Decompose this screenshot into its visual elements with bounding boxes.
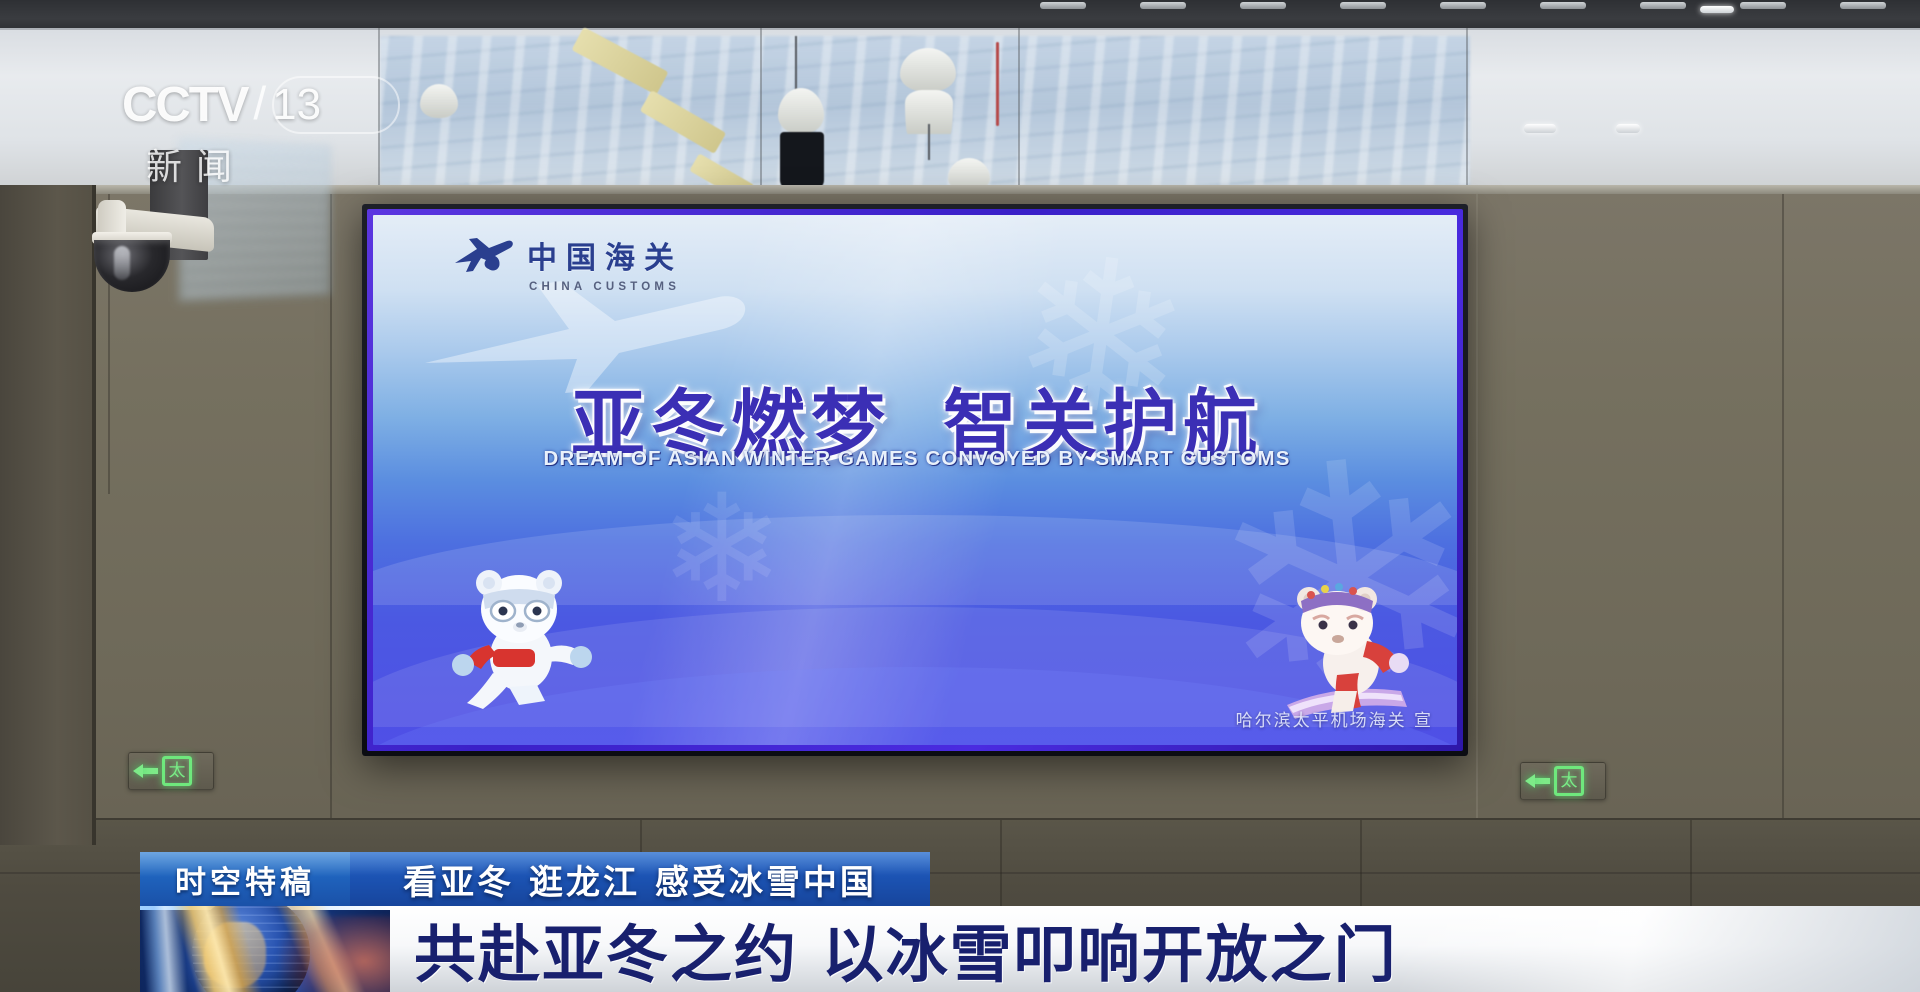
led-screen-content: ❄ ❄ ❄ 中国海关 CHINA CUSTOMS: [373, 215, 1457, 745]
ceiling-dark-fixture: [780, 132, 824, 190]
customs-logo-cn: 中国海关: [527, 233, 683, 277]
led-credit-text: 哈尔滨太平机场海关 宣: [1236, 706, 1433, 731]
speed-skating-tiger-mascot: [449, 553, 599, 713]
exit-sign-right: 太: [1520, 762, 1606, 800]
exit-running-person-icon-2: 太: [1554, 766, 1584, 796]
customs-logo-en: CHINA CUSTOMS: [529, 281, 683, 293]
recessed-ceiling-light-1: [1524, 124, 1556, 133]
ceiling-light-fixture: [778, 88, 824, 134]
lower-third-subtitle-box: 看亚冬 逛龙江 感受冰雪中国: [350, 852, 930, 906]
exit-sign-left: 太: [128, 752, 214, 790]
hanging-wire: [795, 36, 797, 94]
ceiling-light-fixture-5: [420, 84, 458, 118]
headline-sheen: [1400, 906, 1920, 992]
recessed-ceiling-light-2: [1616, 124, 1640, 133]
lower-third-left-spacer: [0, 906, 140, 992]
exit-arrow-right-icon: [1525, 773, 1551, 789]
china-customs-logo: 中国海关 CHINA CUSTOMS: [451, 233, 683, 293]
lower-third-headline-row: 共赴亚冬之约 以冰雪叩响开放之门: [0, 906, 1920, 992]
ceiling-light-fixture-2: [900, 48, 956, 92]
recessed-ceiling-light-3: [1700, 6, 1734, 13]
ceiling-edge-line: [0, 28, 1920, 30]
lower-third-subtitle: 看亚冬 逛龙江 感受冰雪中国: [403, 855, 877, 904]
broadcast-frame: ❄ ❄ ❄ 中国海关 CHINA CUSTOMS: [0, 0, 1920, 992]
ceiling-red-cable: [996, 42, 999, 126]
globe-red-flare: [280, 916, 390, 992]
lower-third-tag: 时空特稿: [140, 852, 350, 906]
exit-arrow-left-icon: [133, 763, 159, 779]
lower-third-headline-box: 共赴亚冬之约 以冰雪叩响开放之门: [390, 906, 1920, 992]
wall-base-line: [0, 818, 1920, 820]
lower-third-banner: 时空特稿 看亚冬 逛龙江 感受冰雪中国 共赴亚冬之约 以冰雪叩响开放之门: [0, 852, 1920, 992]
exit-running-person-icon: 太: [162, 756, 192, 786]
news-globe-logo: [140, 906, 390, 992]
lower-third-headline: 共赴亚冬之约 以冰雪叩响开放之门: [414, 906, 1398, 992]
customs-emblem-icon: [451, 233, 517, 279]
led-slogan-english: DREAM OF ASIAN WINTER GAMES CONVOYED BY …: [407, 447, 1427, 471]
left-column: [0, 185, 96, 845]
led-video-wall: ❄ ❄ ❄ 中国海关 CHINA CUSTOMS: [362, 204, 1468, 756]
lower-third-top-row: 时空特稿 看亚冬 逛龙江 感受冰雪中国: [140, 852, 930, 906]
left-column-edge: [92, 185, 96, 845]
lower-third-tag-label: 时空特稿: [175, 857, 315, 902]
